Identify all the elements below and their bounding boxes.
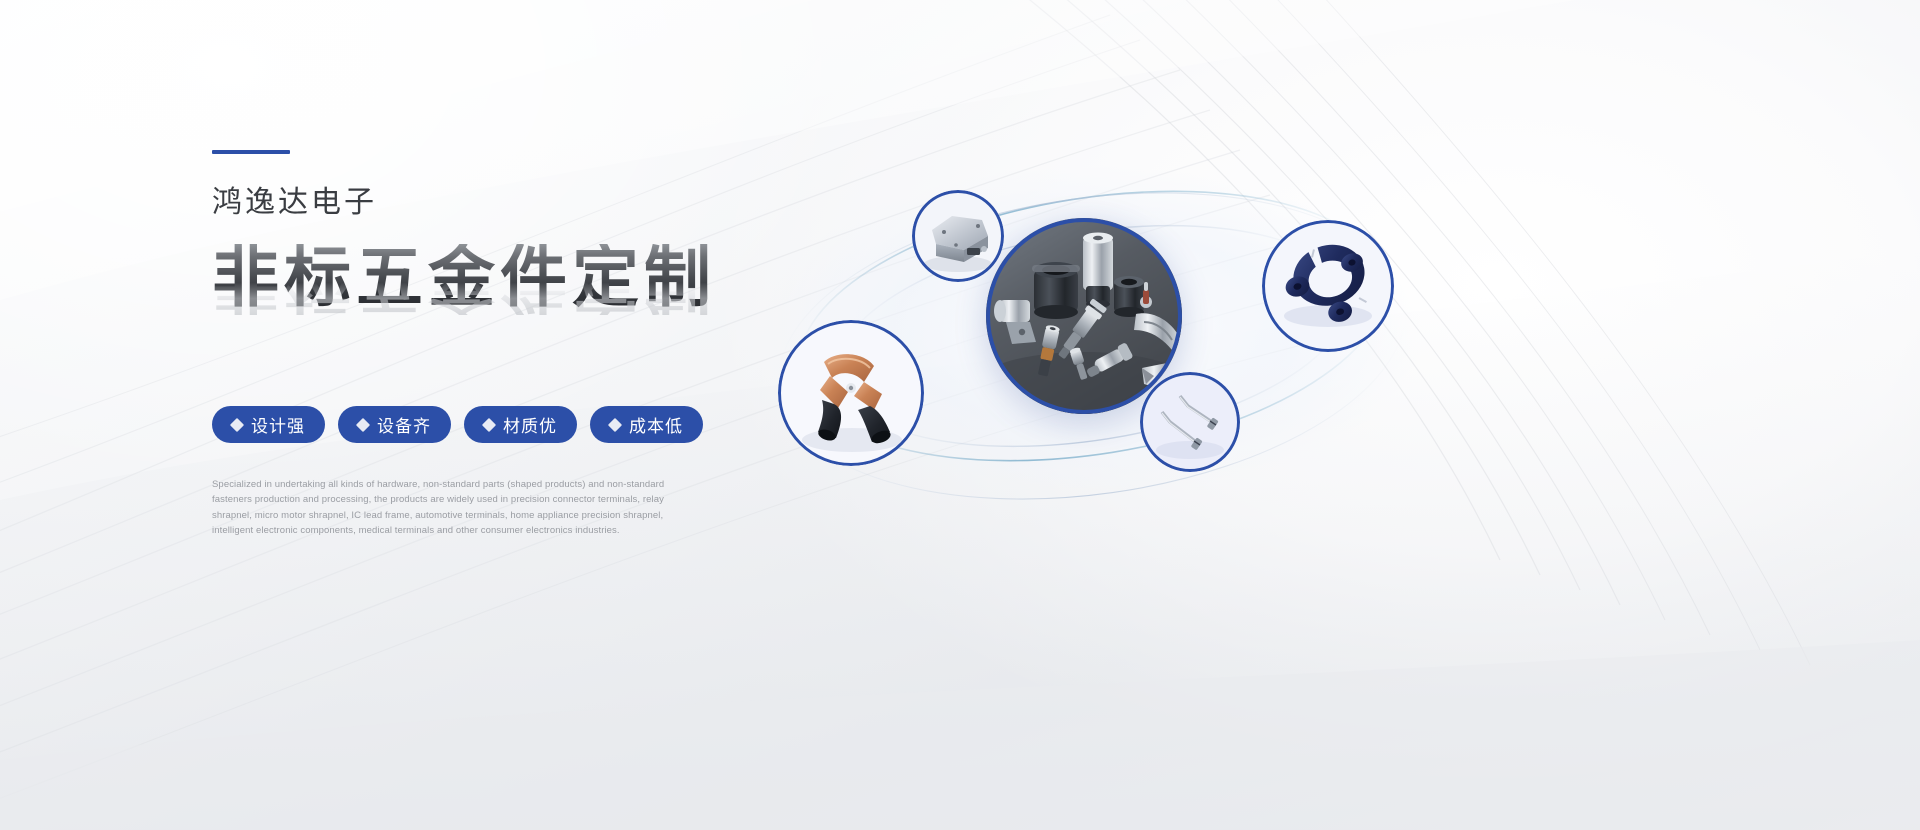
hero-banner: 鸿逸达电子 非标五金件定制 非标五金件定制 设计强 设备齐 材质优 成本低 xyxy=(0,0,1920,830)
feature-pill-label: 材质优 xyxy=(503,412,557,437)
feature-pill-label: 成本低 xyxy=(629,412,683,437)
metal-enclosure-box-photo xyxy=(912,190,1004,282)
headline-group: 非标五金件定制 非标五金件定制 xyxy=(212,244,832,372)
product-circle-battery-clamp[interactable] xyxy=(778,320,924,466)
diamond-icon xyxy=(356,417,370,431)
diamond-icon xyxy=(230,417,244,431)
page-title: 非标五金件定制 xyxy=(212,244,832,311)
product-circle-bent-pins[interactable] xyxy=(1140,372,1240,472)
feature-pill-design[interactable]: 设计强 xyxy=(212,406,325,443)
description-paragraph: Specialized in undertaking all kinds of … xyxy=(212,477,682,539)
product-circle-enclosure[interactable] xyxy=(912,190,1004,282)
copper-battery-clamp-photo xyxy=(778,320,924,466)
feature-pill-label: 设计强 xyxy=(251,412,305,437)
accent-bar xyxy=(212,150,290,154)
product-visual-cluster xyxy=(740,140,1460,540)
feature-pill-material[interactable]: 材质优 xyxy=(464,406,577,443)
hero-text-block: 鸿逸达电子 非标五金件定制 非标五金件定制 设计强 设备齐 材质优 成本低 xyxy=(212,150,832,539)
feature-pill-label: 设备齐 xyxy=(377,412,431,437)
feature-pill-equipment[interactable]: 设备齐 xyxy=(338,406,451,443)
bent-metal-pins-photo xyxy=(1140,372,1240,472)
feature-pill-cost[interactable]: 成本低 xyxy=(590,406,703,443)
feature-pill-row: 设计强 设备齐 材质优 成本低 xyxy=(212,406,832,443)
diamond-icon xyxy=(482,417,496,431)
diamond-icon xyxy=(608,417,622,431)
product-circle-retaining-ring[interactable] xyxy=(1262,220,1394,352)
blue-retaining-ring-photo xyxy=(1262,220,1394,352)
brand-name: 鸿逸达电子 xyxy=(212,188,832,218)
